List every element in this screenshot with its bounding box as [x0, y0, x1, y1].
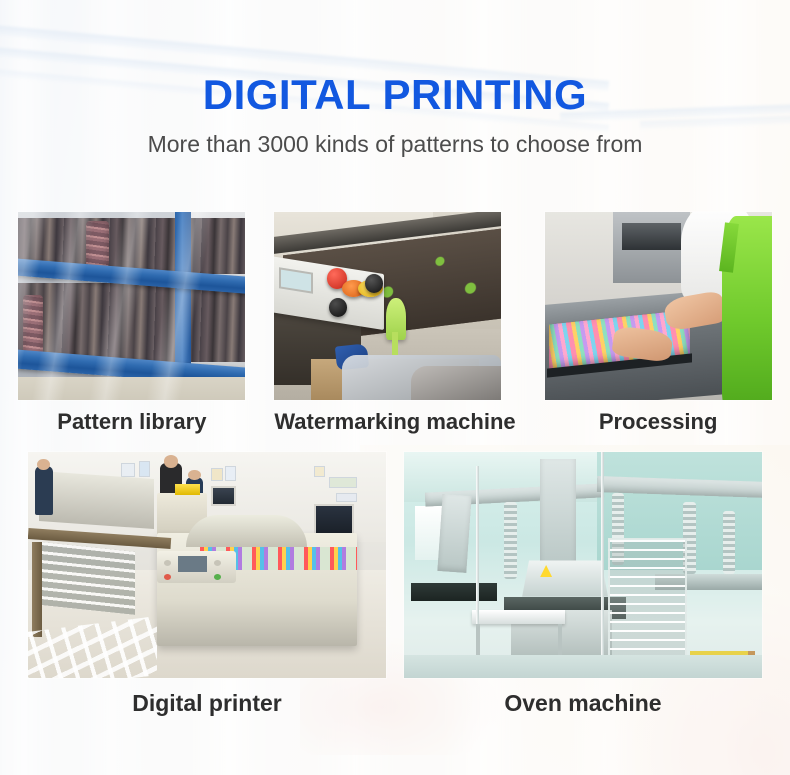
caption-oven-machine: Oven machine: [404, 690, 762, 717]
thumbnail-watermarking-machine[interactable]: [274, 212, 501, 400]
caption-pattern-library: Pattern library: [18, 409, 245, 435]
gallery-card-processing[interactable]: Processing: [545, 212, 772, 435]
gallery-row-top: Pattern library: [0, 212, 790, 435]
gallery-card-digital-printer[interactable]: Digital printer: [28, 452, 386, 717]
banner-content: DIGITAL PRINTING More than 3000 kinds of…: [0, 0, 790, 159]
thumbnail-digital-printer[interactable]: [28, 452, 386, 678]
thumbnail-oven-machine[interactable]: [404, 452, 762, 678]
caption-processing: Processing: [545, 409, 772, 435]
page-title: DIGITAL PRINTING: [0, 72, 790, 117]
gallery-row-bottom: Digital printer: [0, 452, 790, 717]
thumbnail-pattern-library[interactable]: [18, 212, 245, 400]
caption-digital-printer: Digital printer: [28, 690, 386, 717]
caption-watermarking-machine: Watermarking machine: [274, 409, 515, 435]
page-subtitle: More than 3000 kinds of patterns to choo…: [0, 131, 790, 159]
gallery-card-oven-machine[interactable]: Oven machine: [404, 452, 762, 717]
gallery-card-watermarking-machine[interactable]: Watermarking machine: [274, 212, 515, 435]
gallery-card-pattern-library[interactable]: Pattern library: [18, 212, 245, 435]
thumbnail-processing[interactable]: [545, 212, 772, 400]
banner-header: DIGITAL PRINTING More than 3000 kinds of…: [0, 0, 790, 159]
digital-printing-banner: DIGITAL PRINTING More than 3000 kinds of…: [0, 0, 790, 775]
